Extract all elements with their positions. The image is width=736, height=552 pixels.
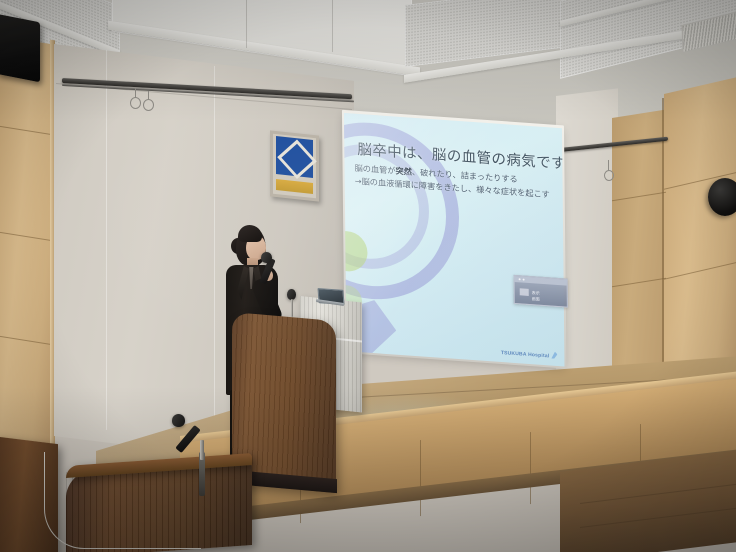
- lectern-mic-stem: [291, 299, 293, 317]
- back-wall-seam-v1: [106, 50, 107, 430]
- logo-mark-icon: [551, 352, 557, 359]
- stage-front-seam-2: [420, 440, 421, 516]
- presenter-hair-front: [238, 225, 262, 242]
- handheld-mic-head: [261, 252, 272, 263]
- projection-screen: 脳卒中は、脳の血管の病気です 脳の血管が突然、破れたり、詰まったりする →脳の血…: [344, 113, 564, 366]
- projected-slide: 脳卒中は、脳の血管の病気です 脳の血管が突然、破れたり、詰まったりする →脳の血…: [344, 113, 564, 366]
- wood-wall-right-a: [612, 109, 666, 380]
- ceiling-speaker-icon: [708, 178, 736, 216]
- wood-wall-right-corner: [662, 98, 664, 388]
- ceiling-panel-seam-b: [332, 0, 333, 52]
- wood-wall-left: [0, 36, 52, 460]
- wood-wall-right-b: [664, 76, 736, 394]
- curtain-hook-2: [143, 99, 154, 111]
- lecture-hall-photo: 脳卒中は、脳の血管の病気です 脳の血管が突然、破れたり、詰まったりする →脳の血…: [0, 0, 736, 552]
- slide-hospital-logo: TSUKUBA Hospital: [501, 348, 558, 360]
- overlay-sublabel: 画面: [532, 296, 540, 303]
- wall-speaker-icon: [0, 14, 40, 83]
- overlay-dot-2: [523, 279, 525, 281]
- foreground-mic-head: [172, 414, 185, 427]
- overlay-panel-titlebar: [515, 276, 567, 286]
- overlay-dot-1: [519, 278, 521, 280]
- overlay-thumbnail: [520, 288, 529, 296]
- microphone-cable: [44, 452, 201, 549]
- presenter-overlay-panel[interactable]: 表示 画面: [514, 275, 568, 308]
- stage-front-seam-3: [530, 432, 531, 504]
- framed-artwork: [270, 130, 319, 201]
- ceiling-panel-seam-a: [246, 0, 247, 48]
- curtain-hook-3: [604, 170, 614, 181]
- curtain-hook-1: [130, 97, 141, 109]
